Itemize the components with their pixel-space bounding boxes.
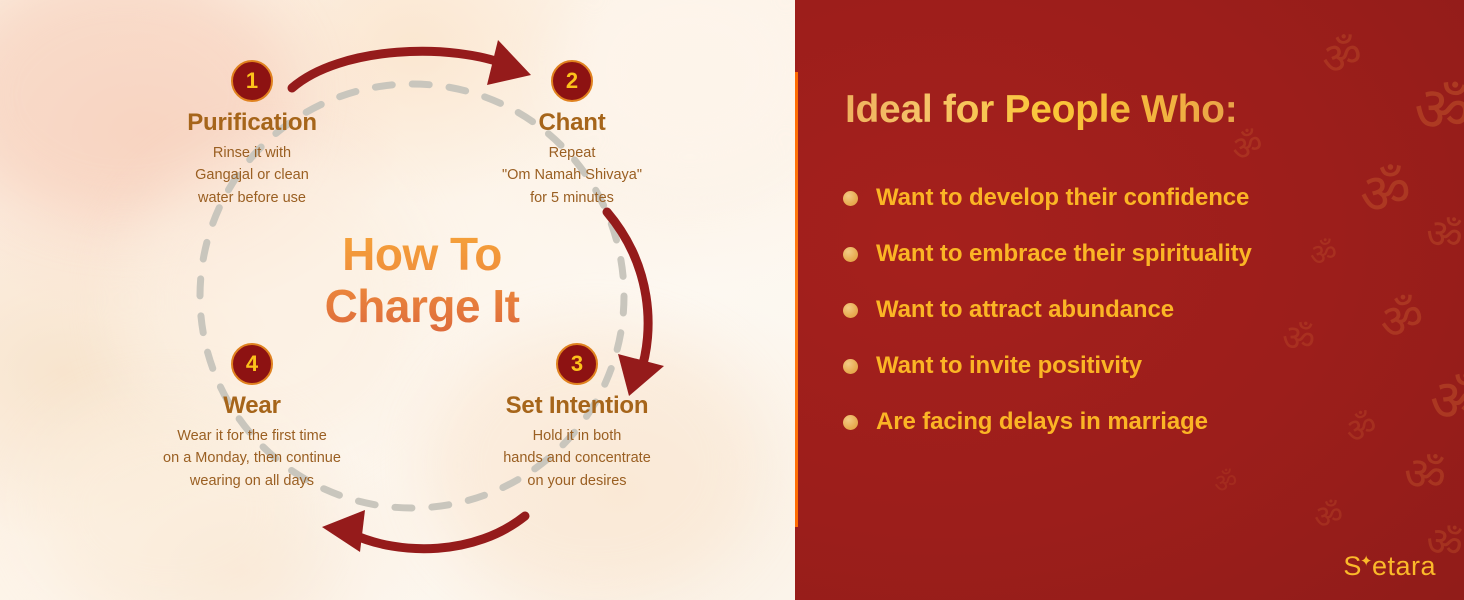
bullet-dot-icon (843, 191, 858, 206)
om-icon: ॐ (1228, 126, 1268, 168)
list-item: Want to develop their confidence (843, 170, 1443, 226)
bullet-dot-icon (843, 415, 858, 430)
list-item: Want to embrace their spirituality (843, 226, 1443, 282)
step-3-badge: 3 (556, 343, 598, 385)
step-2: 2 Chant Repeat "Om Namah Shivaya" for 5 … (452, 60, 692, 209)
step-2-description: Repeat "Om Namah Shivaya" for 5 minutes (452, 142, 692, 209)
step-4-badge: 4 (231, 343, 273, 385)
center-title-line-2: Charge It (252, 280, 592, 332)
step-1-description: Rinse it with Gangajal or clean water be… (132, 142, 372, 209)
list-item: Are facing delays in marriage (843, 394, 1443, 450)
step-1-title: Purification (132, 109, 372, 137)
list-item-label: Want to develop their confidence (876, 184, 1249, 212)
list-item-label: Want to attract abundance (876, 296, 1174, 324)
sparkle-icon: ✦ (1360, 554, 1373, 569)
step-4-description: Wear it for the first time on a Monday, … (132, 425, 372, 492)
om-icon: ॐ (1211, 467, 1241, 498)
om-icon: ॐ (1312, 498, 1345, 534)
how-to-charge-panel: How To Charge It 1 Purification Rinse it… (0, 0, 795, 600)
step-2-badge: 2 (551, 60, 593, 102)
om-icon: ॐ (1318, 32, 1366, 83)
panel-accent-line (795, 72, 798, 527)
list-item-label: Are facing delays in marriage (876, 408, 1208, 436)
step-2-title: Chant (452, 109, 692, 137)
step-3-title: Set Intention (457, 392, 697, 420)
benefits-list: Want to develop their confidence Want to… (843, 170, 1443, 450)
bullet-dot-icon (843, 247, 858, 262)
center-title-line-1: How To (252, 228, 592, 280)
bullet-dot-icon (843, 303, 858, 318)
logo-text-post: etara (1372, 551, 1436, 582)
bullet-dot-icon (843, 359, 858, 374)
om-icon: ॐ (1409, 76, 1464, 146)
brand-logo: S ✦ etara (1343, 551, 1436, 582)
ideal-for-people-panel: ॐ ॐ ॐ ॐ ॐ ॐ ॐ ॐ ॐ ॐ ॐ ॐ ॐ ॐ Ideal for Pe… (795, 0, 1464, 600)
right-panel-heading: Ideal for People Who: (845, 88, 1237, 132)
step-1: 1 Purification Rinse it with Gangajal or… (132, 60, 372, 209)
om-icon: ॐ (1400, 448, 1451, 502)
list-item: Want to attract abundance (843, 282, 1443, 338)
arrow-bottom-clockwise (322, 510, 525, 552)
list-item-label: Want to embrace their spirituality (876, 240, 1252, 268)
step-4-title: Wear (132, 392, 372, 420)
step-3-description: Hold it in both hands and concentrate on… (457, 425, 697, 492)
infographic-canvas: How To Charge It 1 Purification Rinse it… (0, 0, 1464, 600)
step-4: 4 Wear Wear it for the first time on a M… (132, 343, 372, 492)
step-1-badge: 1 (231, 60, 273, 102)
center-title: How To Charge It (252, 228, 592, 333)
step-3: 3 Set Intention Hold it in both hands an… (457, 343, 697, 492)
list-item-label: Want to invite positivity (876, 352, 1142, 380)
list-item: Want to invite positivity (843, 338, 1443, 394)
